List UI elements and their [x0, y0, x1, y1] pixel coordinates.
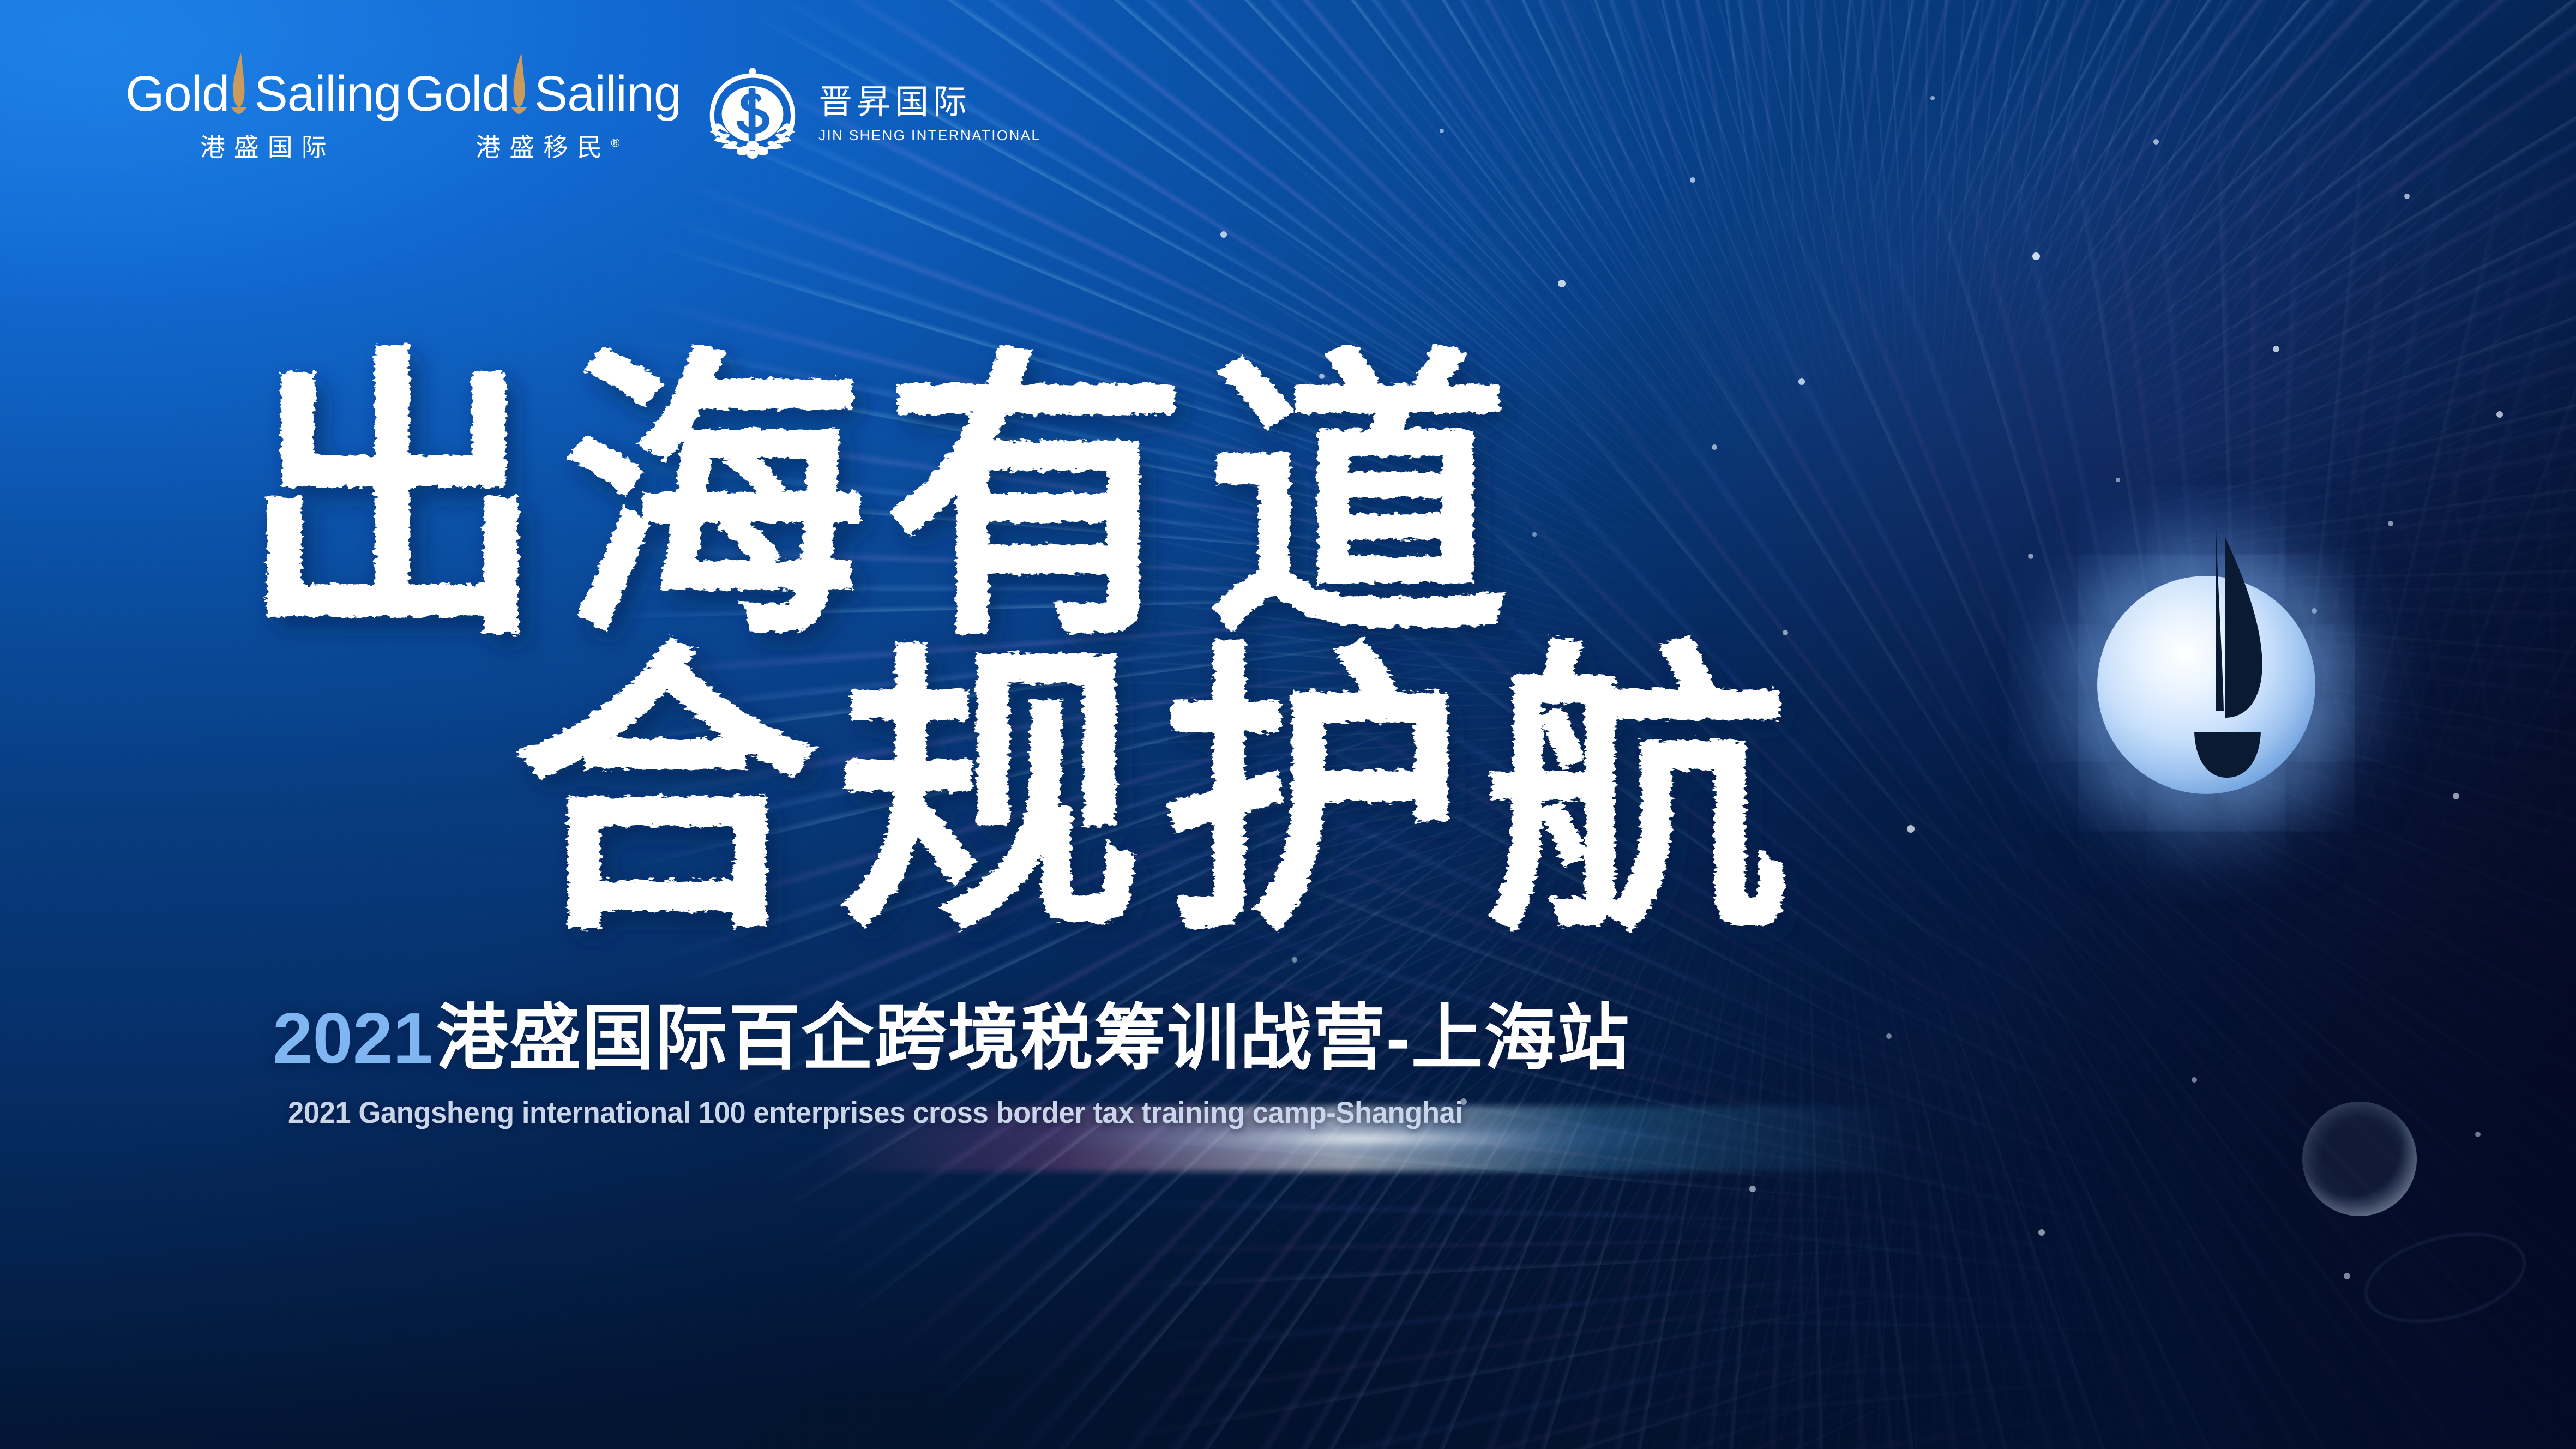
logo2-word-left: Gold	[406, 66, 509, 122]
logo1-word-right: Sailing	[254, 66, 401, 122]
subtitle-english-line: 2021 Gangsheng international 100 enterpr…	[288, 1097, 1463, 1128]
headline-calligraphy: 出海有道 合规护航	[240, 322, 1876, 965]
logo-jin-sheng-international[interactable]: 晋昇国际 JIN SHENG INTERNATIONAL	[703, 64, 1040, 164]
logo-bar: GoldSailing 港盛国际 GoldSailing 港盛移民®	[125, 64, 1040, 164]
subtitle-chinese-line: 2021港盛国际百企跨境税筹训战营-上海站	[273, 1002, 1630, 1074]
jin-sheng-text-block: 晋昇国际 JIN SHENG INTERNATIONAL	[818, 84, 1040, 143]
logo-gold-sailing-international[interactable]: GoldSailing 港盛国际	[125, 69, 401, 164]
gold-sailing-wordmark: GoldSailing	[406, 69, 682, 119]
logo1-chinese: 港盛国际	[191, 128, 335, 164]
event-banner: GoldSailing 港盛国际 GoldSailing 港盛移民®	[0, 0, 2576, 1449]
headline-line2-group: 合规护航	[513, 617, 1808, 965]
headline-svg: 出海有道 合规护航	[240, 322, 1876, 965]
sailboat-moon-decoration	[2087, 515, 2371, 820]
subtitle-chinese: 港盛国际百企跨境税筹训战营-上海站	[436, 998, 1630, 1078]
headline-line2-text: 合规护航	[513, 617, 1808, 965]
jin-sheng-english: JIN SHENG INTERNATIONAL	[818, 127, 1040, 144]
logo-gold-sailing-immigration[interactable]: GoldSailing 港盛移民®	[406, 69, 682, 164]
jin-sheng-chinese: 晋昇国际	[818, 84, 1040, 121]
logo1-word-left: Gold	[125, 66, 229, 122]
light-bubble-orb	[2302, 1102, 2417, 1216]
sailboat-silhouette-icon	[2087, 515, 2371, 820]
logo2-word-right: Sailing	[534, 66, 681, 122]
logo2-chinese-wrap: 港盛移民®	[467, 128, 619, 164]
gold-sailing-wordmark: GoldSailing	[125, 69, 401, 119]
registered-trademark-icon: ®	[611, 136, 619, 150]
subtitle-year: 2021	[273, 998, 433, 1078]
logo2-chinese: 港盛移民	[476, 133, 611, 161]
laurel-wreath-s-monogram-emblem	[703, 64, 802, 164]
